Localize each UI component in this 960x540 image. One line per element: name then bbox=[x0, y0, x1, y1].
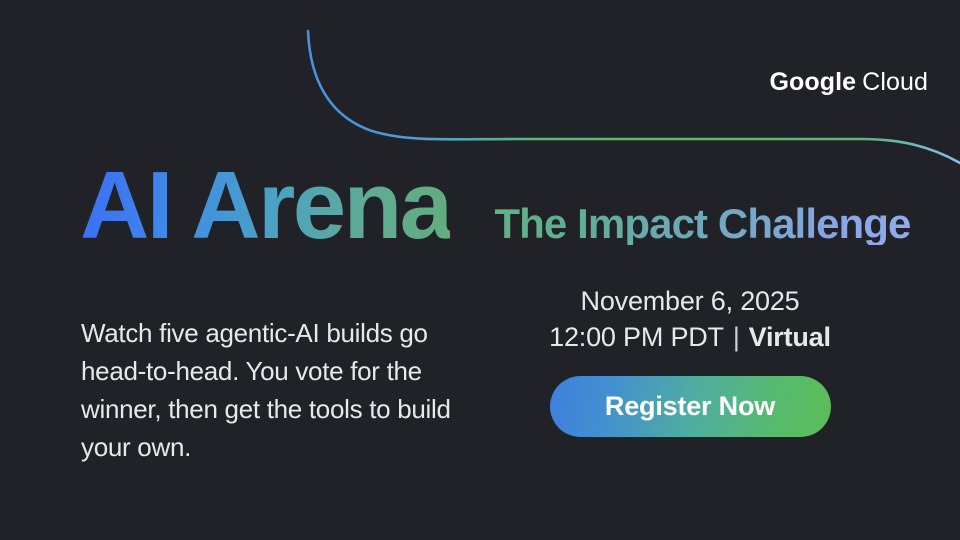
register-now-button[interactable]: Register Now bbox=[550, 376, 831, 437]
event-format-badge: Virtual bbox=[749, 322, 831, 352]
google-cloud-logo: GoogleCloud bbox=[769, 68, 928, 97]
event-promo-banner: GoogleCloud AI Arena The Impact Challeng… bbox=[0, 0, 960, 540]
headline-row: AI Arena The Impact Challenge bbox=[80, 158, 911, 254]
event-details: November 6, 2025 12:00 PM PDT|Virtual Re… bbox=[520, 283, 860, 437]
event-separator: | bbox=[733, 322, 740, 352]
cta-container: Register Now bbox=[520, 376, 860, 437]
event-time-row: 12:00 PM PDT|Virtual bbox=[520, 319, 860, 355]
hero-description: Watch five agentic-AI builds go head-to-… bbox=[81, 314, 481, 466]
event-time: 12:00 PM PDT bbox=[549, 322, 724, 352]
brand-name-google: Google bbox=[769, 68, 856, 96]
brand-name-cloud: Cloud bbox=[862, 68, 928, 96]
page-subtitle: The Impact Challenge bbox=[494, 203, 910, 245]
event-date: November 6, 2025 bbox=[520, 283, 860, 319]
page-title: AI Arena bbox=[80, 158, 450, 254]
